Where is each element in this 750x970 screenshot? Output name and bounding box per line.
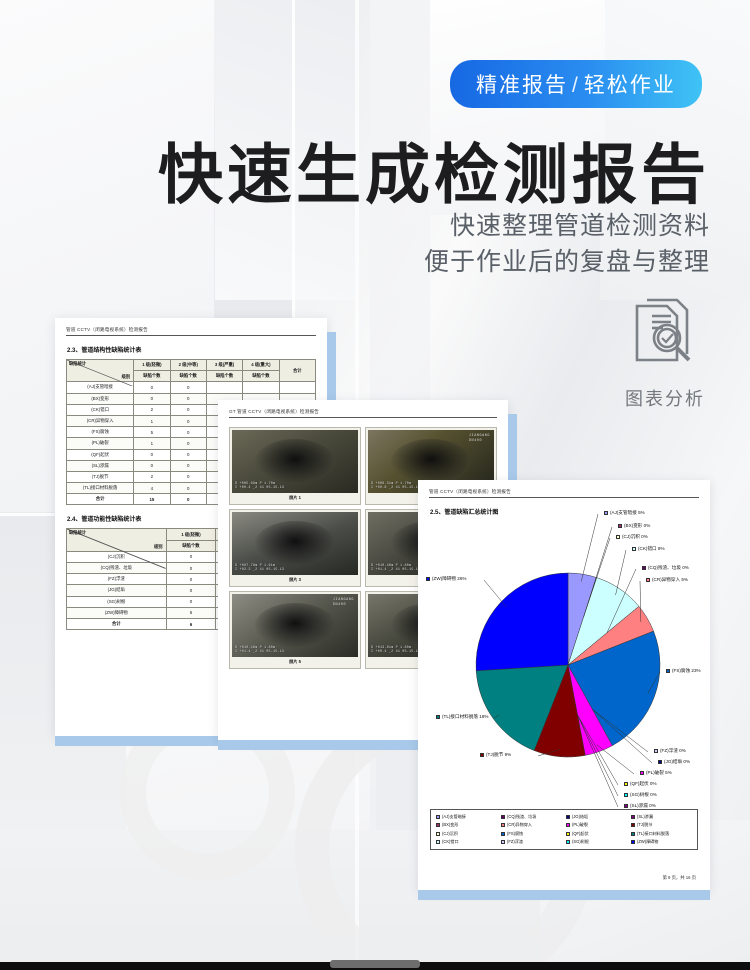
legend-item: (CK)错口 xyxy=(436,839,497,845)
pie-slice-label: (ZW)障碍物 26% xyxy=(426,576,466,582)
corner-top-label-2: 缺陷统计 xyxy=(69,530,86,536)
defect-name: (TJ)脱节 xyxy=(67,471,134,482)
total-count: 0 xyxy=(170,494,206,505)
legend-swatch xyxy=(566,832,570,836)
pie-slice-label: (TL)接口材料脱落 18% xyxy=(436,714,488,720)
table2-col-1: 1 级(轻微) xyxy=(166,529,216,540)
pie-label-swatch xyxy=(436,715,440,719)
legend-item: (JG)结垢 xyxy=(566,814,627,820)
tagline-badge: 精准报告/轻松作业 xyxy=(450,60,702,108)
corner-level-label-2: 级别 xyxy=(154,544,163,550)
pie-label-text: (FS)腐蚀 23% xyxy=(672,668,701,674)
pie-slice-label: (FZ)浮渣 0% xyxy=(654,748,686,754)
table1-corner-cell: 缺陷统计 级别 xyxy=(67,360,134,382)
feature-caption: 图表分析 xyxy=(615,385,715,411)
legend-label: (CR)异物穿入 xyxy=(507,822,532,828)
report-sheet-chart[interactable]: 管道 CCTV（闭路电视系统）检测报告 2.5、管道缺陷汇总统计图 (AJ)支管… xyxy=(418,480,710,890)
pie-label-swatch xyxy=(618,524,622,528)
defect-name: (CK)错口 xyxy=(67,404,134,415)
legend-swatch xyxy=(501,823,505,827)
legend-swatch xyxy=(566,823,570,827)
tagline-left: 精准报告 xyxy=(476,74,568,97)
defect-name: (TL)接口材料脱落 xyxy=(67,483,134,494)
total-label: 合计 xyxy=(67,618,167,629)
table1-sub-1: 缺陷个数 xyxy=(134,371,170,382)
defect-count: 0 xyxy=(166,551,216,562)
pie-label-swatch xyxy=(604,511,608,515)
pie-label-swatch xyxy=(646,578,650,582)
pie-leader-line xyxy=(597,745,634,774)
legend-label: (JG)结垢 xyxy=(572,814,588,820)
legend-swatch xyxy=(631,832,635,836)
pie-slice-label: (CK)错口 9% xyxy=(632,546,665,552)
pie-label-swatch xyxy=(632,547,636,551)
table1-sub-3: 缺陷个数 xyxy=(206,371,242,382)
pie-slice-label: (CQ)残渣、垃圾 0% xyxy=(642,565,689,571)
pie-label-text: (PL)破裂 5% xyxy=(646,770,672,776)
inspection-photo: JIANGANGDN400D +010.46m P 1.80mI +01.4 _… xyxy=(232,594,358,657)
pie-slice-label: (TJ)脱节 9% xyxy=(480,752,511,758)
pie-slice-label: (FS)腐蚀 23% xyxy=(666,668,701,674)
legend-label: (TL)接口材料脱落 xyxy=(637,831,669,837)
pie-label-text: (JG)结垢 0% xyxy=(664,759,690,765)
pie-label-swatch xyxy=(640,771,644,775)
section-title-2-3: 2.3、管道结构性缺陷统计表 xyxy=(67,345,316,354)
defect-count: 0 xyxy=(134,382,170,393)
legend-swatch xyxy=(631,823,635,827)
defect-name: (SG)树根 xyxy=(67,596,167,607)
legend-item: (CR)异物穿入 xyxy=(501,822,562,828)
defect-count: 0 xyxy=(166,585,216,596)
photo-cell[interactable]: JIANGANGDN400D +010.46m P 1.80mI +01.4 _… xyxy=(229,591,361,669)
table1-col-2: 2 级(中等) xyxy=(170,360,206,371)
legend-item: (TL)接口材料脱落 xyxy=(631,831,692,837)
pie-label-swatch xyxy=(480,753,484,757)
defect-name: (PL)破裂 xyxy=(67,438,134,449)
table2-corner-cell: 缺陷统计 级别 xyxy=(67,529,167,551)
legend-label: (FS)腐蚀 xyxy=(507,831,523,837)
pie-label-text: (TJ)脱节 9% xyxy=(486,752,511,758)
pie-chart-legend: (AJ)支管暗接(CQ)残渣、垃圾(JG)结垢(SL)渗漏(BX)变形(CR)异… xyxy=(430,809,698,851)
legend-label: (CJ)沉积 xyxy=(442,831,458,837)
pie-label-swatch xyxy=(642,566,646,570)
pie-label-text: (QF)起伏 0% xyxy=(630,781,657,787)
legend-item: (FZ)浮渣 xyxy=(501,839,562,845)
pie-label-text: (CQ)残渣、垃圾 0% xyxy=(648,565,689,571)
legend-label: (AJ)支管暗接 xyxy=(442,814,466,820)
pie-label-swatch xyxy=(666,669,670,673)
legend-label: (SL)渗漏 xyxy=(637,814,653,820)
pie-slice-label: (SG)树根 0% xyxy=(624,792,657,798)
legend-swatch xyxy=(566,815,570,819)
pie-label-text: (ZW)障碍物 26% xyxy=(432,576,466,582)
pie-slice-label: (JG)结垢 0% xyxy=(658,759,690,765)
defect-count: 2 xyxy=(134,404,170,415)
pie-label-text: (TL)接口材料脱落 18% xyxy=(442,714,488,720)
total-count: 15 xyxy=(134,494,170,505)
corner-top-label: 缺陷统计 xyxy=(69,361,86,367)
bottom-bar-nub xyxy=(330,960,420,968)
document-magnifier-check-icon xyxy=(627,361,703,378)
defect-count xyxy=(206,382,242,393)
defect-name: (JG)结垢 xyxy=(67,585,167,596)
legend-item: (PL)破裂 xyxy=(566,822,627,828)
defect-count: 0 xyxy=(166,574,216,585)
photo-overlay-text: D +006.31m P 1.70mI +00.8 _2 41 05-15-13 xyxy=(371,482,420,491)
defect-count: 0 xyxy=(170,393,206,404)
defect-count: 1 xyxy=(134,438,170,449)
feature-block: 图表分析 xyxy=(615,298,715,411)
legend-label: (CK)错口 xyxy=(442,839,459,845)
pie-label-swatch xyxy=(426,577,430,581)
legend-label: (BX)变形 xyxy=(442,822,458,828)
legend-swatch xyxy=(436,815,440,819)
poster-stage: 精准报告/轻松作业 快速生成检测报告 快速整理管道检测资料 便于作业后的复盘与整… xyxy=(0,0,750,970)
legend-item: (AJ)支管暗接 xyxy=(436,814,497,820)
defect-name: (CR)异物穿入 xyxy=(67,415,134,426)
photo-overlay-id: JIANGANGDN400 xyxy=(469,434,490,444)
legend-item: (FS)腐蚀 xyxy=(501,831,562,837)
legend-swatch xyxy=(501,840,505,844)
table1-col-1: 1 级(轻微) xyxy=(134,360,170,371)
photo-overlay-text: D +005.69m P 1.70mI +00.4 _2 41 05-15-13 xyxy=(235,482,284,491)
total-count: 6 xyxy=(166,618,216,629)
legend-swatch xyxy=(436,823,440,827)
page-subtitle: 快速整理管道检测资料 便于作业后的复盘与整理 xyxy=(424,208,710,281)
table1-sub-4: 缺陷个数 xyxy=(243,371,279,382)
legend-swatch xyxy=(501,832,505,836)
defect-count: 0 xyxy=(170,382,206,393)
defect-name: (BX)变形 xyxy=(67,393,134,404)
defect-count: 0 xyxy=(170,427,206,438)
pie-slice-label: (BX)变形 0% xyxy=(618,523,650,529)
inspection-photo: D +007.78m P 1.61mI +02.3 _2 41 05-15-13 xyxy=(232,512,358,575)
doc3-footer: 第 9 页，共 16 页 xyxy=(663,875,696,881)
pie-label-swatch xyxy=(654,749,658,753)
inspection-photo: D +005.69m P 1.70mI +00.4 _2 41 05-15-13 xyxy=(232,430,358,493)
legend-swatch xyxy=(566,840,570,844)
defect-name: (SL)渗漏 xyxy=(67,460,134,471)
table1-col-4: 4 级(重大) xyxy=(243,360,279,371)
sheet-accent-bar-3 xyxy=(418,890,710,900)
table2-sub-1: 缺陷个数 xyxy=(166,540,216,551)
legend-item: (TJ)脱节 xyxy=(631,822,692,828)
defect-name: (FZ)浮渣 xyxy=(67,574,167,585)
pie-leader-line xyxy=(616,550,626,595)
defect-count: 6 xyxy=(166,607,216,618)
defect-count: 1 xyxy=(134,415,170,426)
table1-sub-2: 缺陷个数 xyxy=(170,371,206,382)
tagline-right: 轻松作业 xyxy=(584,74,676,97)
legend-label: (QF)起伏 xyxy=(572,831,589,837)
tagline-separator: / xyxy=(568,74,584,97)
pie-slice-label: (QF)起伏 0% xyxy=(624,781,657,787)
pie-label-text: (AJ)支管暗接 5% xyxy=(610,510,645,516)
photo-overlay-text: D +010.46m P 1.80mI +01.4 _2 41 05-15-13 xyxy=(371,564,420,573)
defect-count: 0 xyxy=(170,483,206,494)
pie-leader-line xyxy=(581,514,598,581)
table1-col-total: 合计 xyxy=(279,360,315,382)
legend-label: (SG)树根 xyxy=(572,839,589,845)
doc2-header: GT 管道 CCTV（闭路电视系统）检测报告 xyxy=(229,409,497,418)
total-label: 合计 xyxy=(67,494,134,505)
legend-label: (PL)破裂 xyxy=(572,822,588,828)
defect-count: 0 xyxy=(134,393,170,404)
photo-caption: 照片 1 xyxy=(232,493,358,502)
legend-swatch xyxy=(436,840,440,844)
photo-overlay-text: D +010.46m P 1.80mI +01.4 _2 41 05-15-13 xyxy=(235,646,284,655)
pie-label-text: (BX)变形 0% xyxy=(624,523,650,529)
defect-count xyxy=(243,382,279,393)
defect-count: 0 xyxy=(170,438,206,449)
pie-slice-label: (PL)破裂 5% xyxy=(640,770,672,776)
defect-count: 0 xyxy=(166,596,216,607)
pie-slice-label: (CR)异物穿入 5% xyxy=(646,577,688,583)
legend-label: (CQ)残渣、垃圾 xyxy=(507,814,536,820)
pie-label-swatch xyxy=(658,760,662,764)
photo-overlay-text: D +007.78m P 1.61mI +02.3 _2 41 05-15-13 xyxy=(235,564,284,573)
defect-count: 0 xyxy=(170,415,206,426)
legend-label: (TJ)脱节 xyxy=(637,822,652,828)
defect-sum xyxy=(279,382,315,393)
pie-slice-label: (CJ)沉积 0% xyxy=(616,534,648,540)
legend-item: (SL)渗漏 xyxy=(631,814,692,820)
legend-item: (QF)起伏 xyxy=(566,831,627,837)
defect-count: 0 xyxy=(170,449,206,460)
pie-label-text: (FZ)浮渣 0% xyxy=(660,748,686,754)
corner-level-label: 级别 xyxy=(122,374,131,380)
subtitle-line-1: 快速整理管道检测资料 xyxy=(424,208,710,244)
pie-slice-label: (AJ)支管暗接 5% xyxy=(604,510,645,516)
bottom-bar xyxy=(0,962,750,970)
legend-item: (CQ)残渣、垃圾 xyxy=(501,814,562,820)
legend-item: (BX)变形 xyxy=(436,822,497,828)
pie-label-text: (CR)异物穿入 5% xyxy=(652,577,688,583)
pie-slice xyxy=(476,573,568,671)
pie-label-swatch xyxy=(624,793,628,797)
defect-name: (QF)起伏 xyxy=(67,449,134,460)
defect-count: 0 xyxy=(166,563,216,574)
subtitle-line-2: 便于作业后的复盘与整理 xyxy=(424,244,710,280)
photo-caption: 照片 5 xyxy=(232,657,358,666)
photo-overlay-id: JIANGANGDN400 xyxy=(333,598,354,608)
pie-label-text: (SG)树根 0% xyxy=(630,792,657,798)
legend-label: (ZW)障碍物 xyxy=(637,839,658,845)
defect-name: (FS)腐蚀 xyxy=(67,427,134,438)
photo-overlay-text: D +013.81m P 1.80mI +00.4 _2 41 05-15-13 xyxy=(371,646,420,655)
table1-col-3: 3 级(严重) xyxy=(206,360,242,371)
pie-label-swatch xyxy=(624,804,628,808)
photo-cell[interactable]: D +005.69m P 1.70mI +00.4 _2 41 05-15-13… xyxy=(229,427,361,505)
defect-count: 0 xyxy=(170,471,206,482)
defect-count: 4 xyxy=(134,483,170,494)
legend-swatch xyxy=(501,815,505,819)
defect-count: 0 xyxy=(134,449,170,460)
pie-label-text: (CK)错口 9% xyxy=(638,546,665,552)
legend-item: (CJ)沉积 xyxy=(436,831,497,837)
defect-count: 2 xyxy=(134,471,170,482)
legend-item: (SG)树根 xyxy=(566,839,627,845)
photo-caption: 照片 3 xyxy=(232,575,358,584)
defect-name: (ZW)障碍物 xyxy=(67,607,167,618)
defect-count: 0 xyxy=(134,460,170,471)
legend-label: (FZ)浮渣 xyxy=(507,839,523,845)
defect-count: 5 xyxy=(134,427,170,438)
legend-swatch xyxy=(631,815,635,819)
sheet-content-3: 管道 CCTV（闭路电视系统）检测报告 2.5、管道缺陷汇总统计图 (AJ)支管… xyxy=(418,480,710,890)
legend-swatch xyxy=(631,840,635,844)
legend-item: (ZW)障碍物 xyxy=(631,839,692,845)
pie-leader-line xyxy=(484,580,506,607)
defect-count: 0 xyxy=(170,460,206,471)
page-title: 快速生成检测报告 xyxy=(158,122,710,216)
pie-label-text: (CJ)沉积 0% xyxy=(622,534,648,540)
pie-label-swatch xyxy=(616,535,620,539)
defect-count: 0 xyxy=(170,404,206,415)
pie-label-swatch xyxy=(624,782,628,786)
doc-header: 管道 CCTV（闭路电视系统）检测报告 xyxy=(66,327,316,336)
photo-cell[interactable]: D +007.78m P 1.61mI +02.3 _2 41 05-15-13… xyxy=(229,509,361,587)
legend-swatch xyxy=(436,832,440,836)
